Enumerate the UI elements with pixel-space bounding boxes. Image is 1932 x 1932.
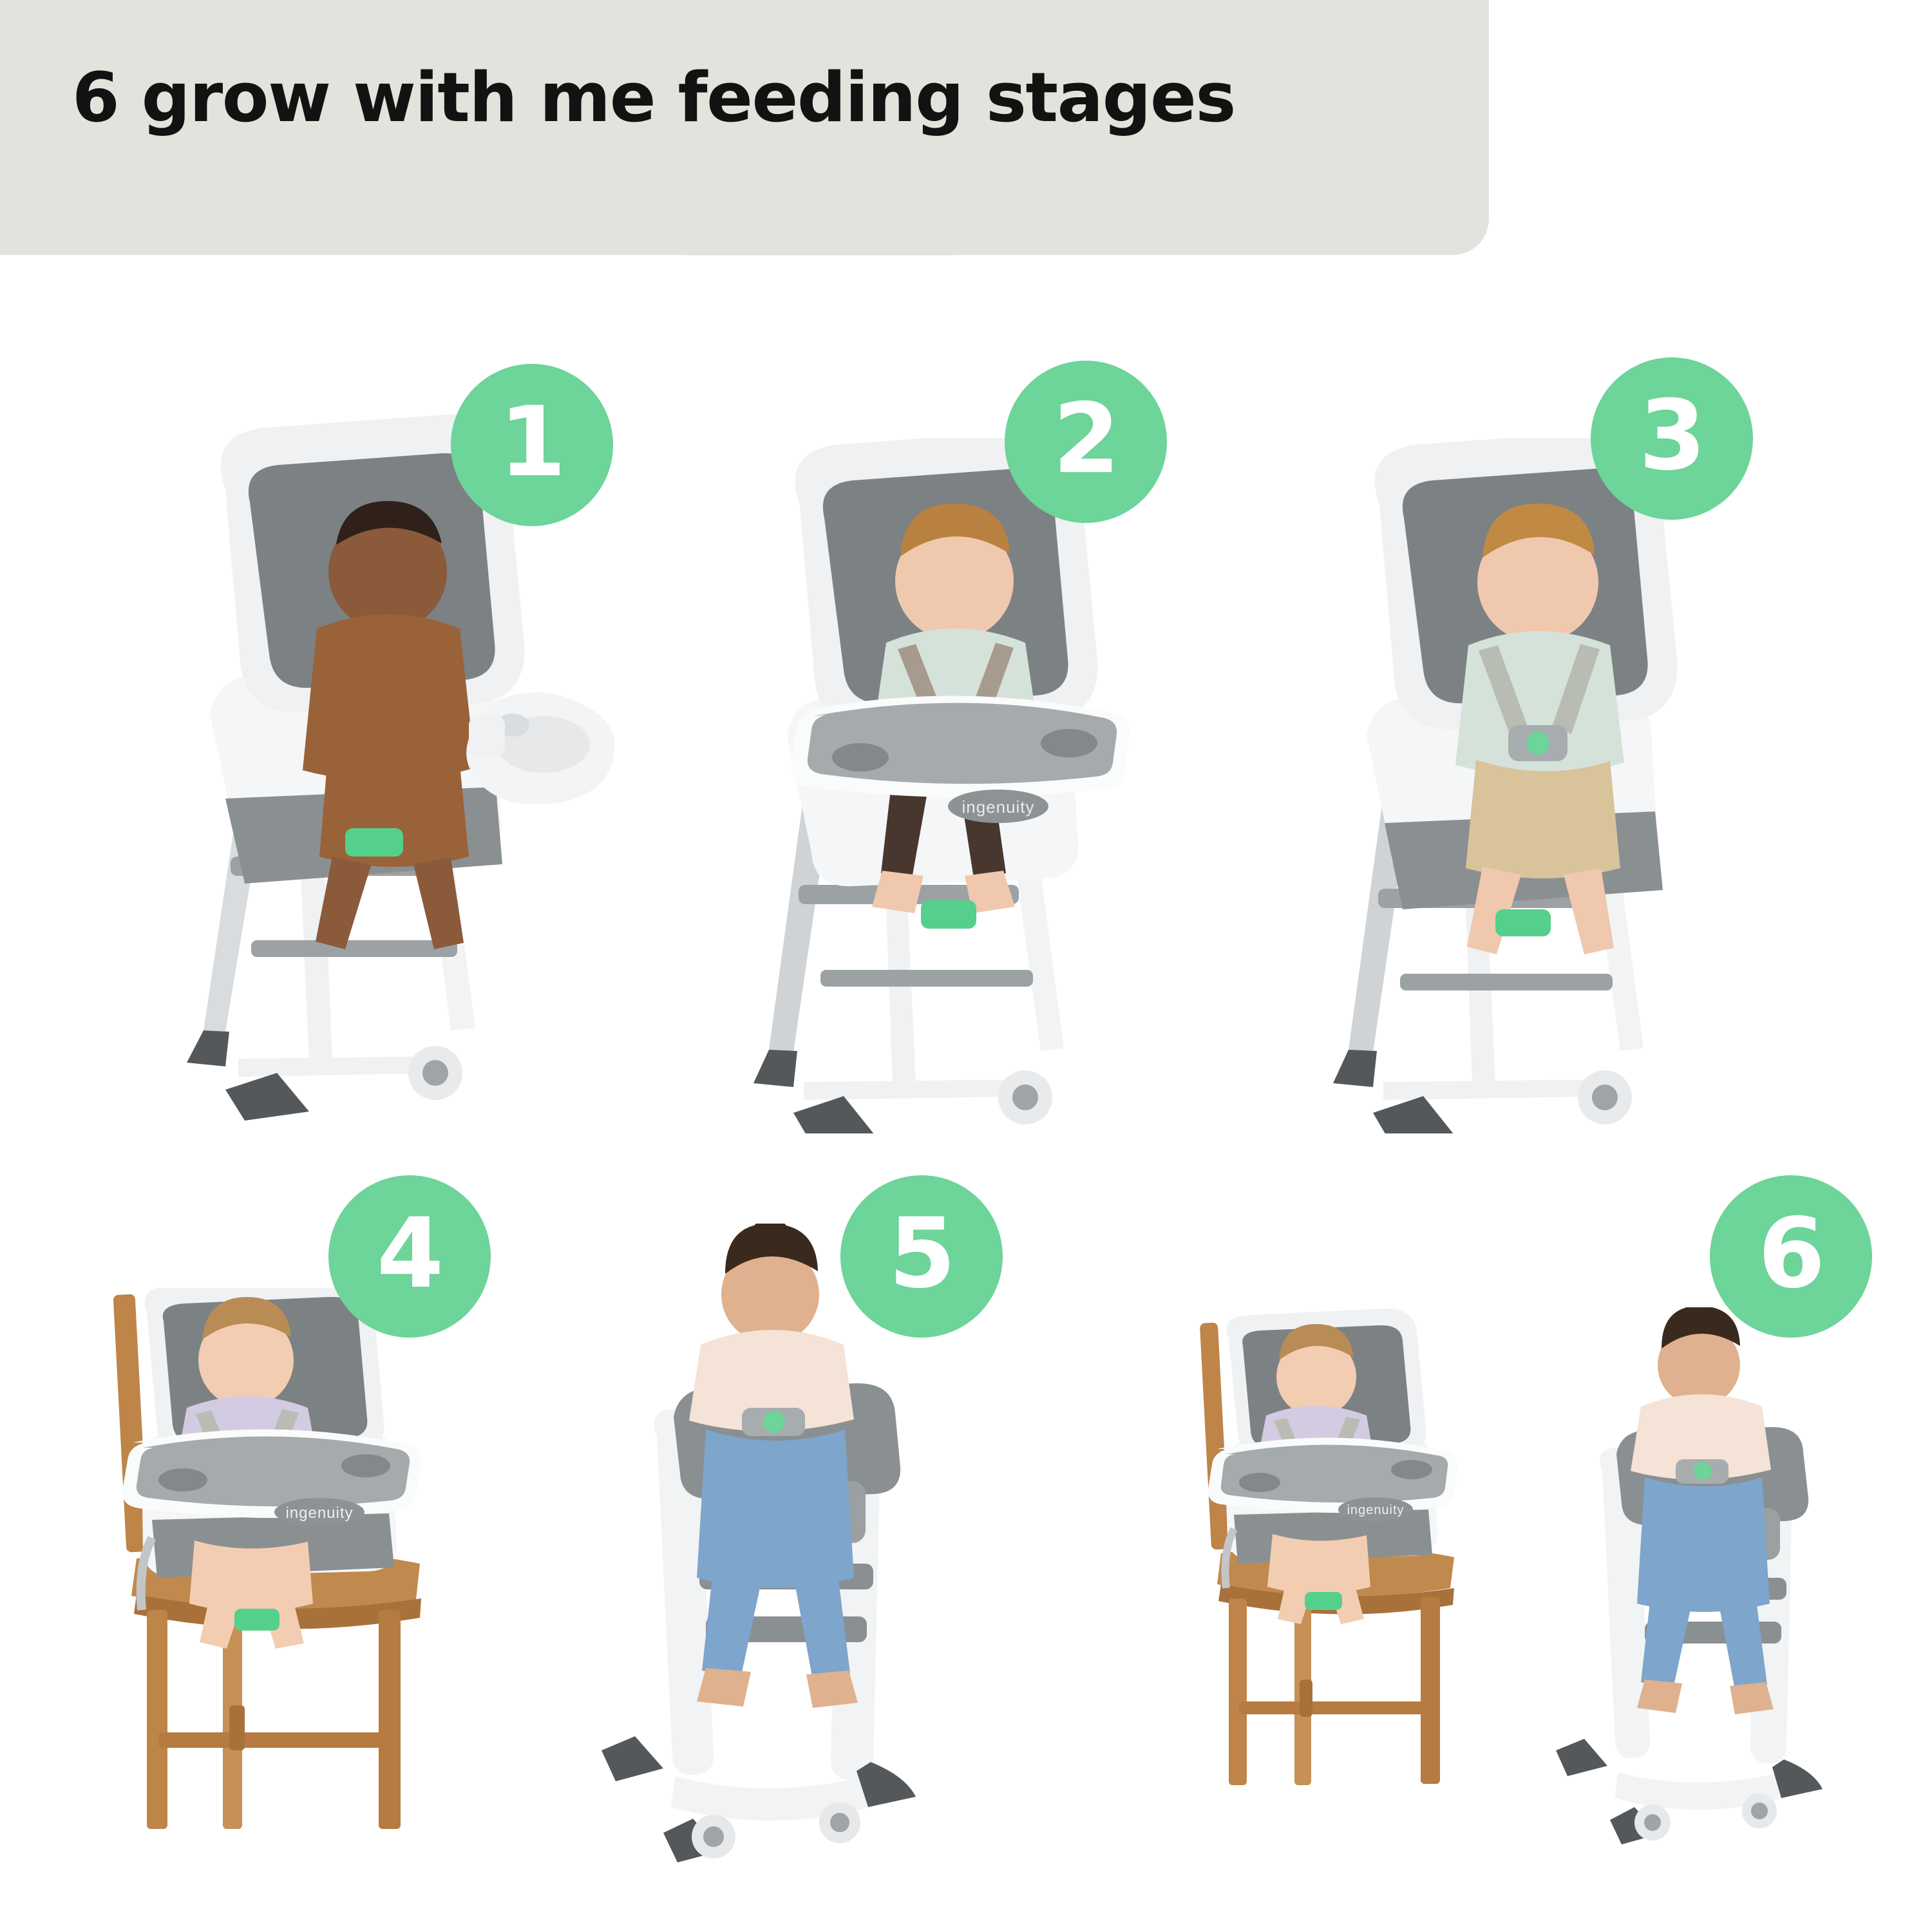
booster-on-wooden-chair-stage-4-illustration: ingenuity [97,1288,509,1842]
booster-and-toddler-chair-stage-6-illustration: ingenuity [1191,1307,1913,1861]
stage-1-badge: 1 [451,364,613,526]
stage-1-number: 1 [499,394,565,491]
stage-6-booster-group: ingenuity [1200,1309,1458,1785]
highchair-stage-2-illustration: ingenuity [728,438,1191,1133]
stage-2-photo: ingenuity [728,438,1191,1133]
brand-logo-text: ingenuity [1347,1503,1404,1517]
stage-4-badge: 4 [328,1175,491,1338]
stage-6-badge: 6 [1710,1175,1872,1338]
stage-3-badge: 3 [1591,357,1753,520]
stage-6-toddler-chair-group [1556,1307,1823,1844]
page-title: 6 grow with me feeding stages [72,62,1235,133]
brand-logo-text: ingenuity [961,797,1034,817]
stage-2-badge: 2 [1005,361,1167,523]
highchair-stage-3-illustration [1307,438,1771,1133]
product-feature-graphic: 6 grow with me feeding stages [0,0,1932,1932]
stage-6-number: 6 [1758,1206,1824,1302]
stage-2-number: 2 [1053,391,1119,488]
stage-4-photo: ingenuity [97,1288,509,1842]
stage-5-number: 5 [889,1206,954,1302]
brand-logo-text: ingenuity [285,1504,353,1522]
stage-3-photo [1307,438,1771,1133]
stage-3-number: 3 [1639,388,1705,484]
stage-4-number: 4 [377,1206,442,1302]
stage-5-badge: 5 [840,1175,1003,1338]
stage-6-photo: ingenuity [1191,1307,1913,1861]
header-banner: 6 grow with me feeding stages [0,0,1489,255]
